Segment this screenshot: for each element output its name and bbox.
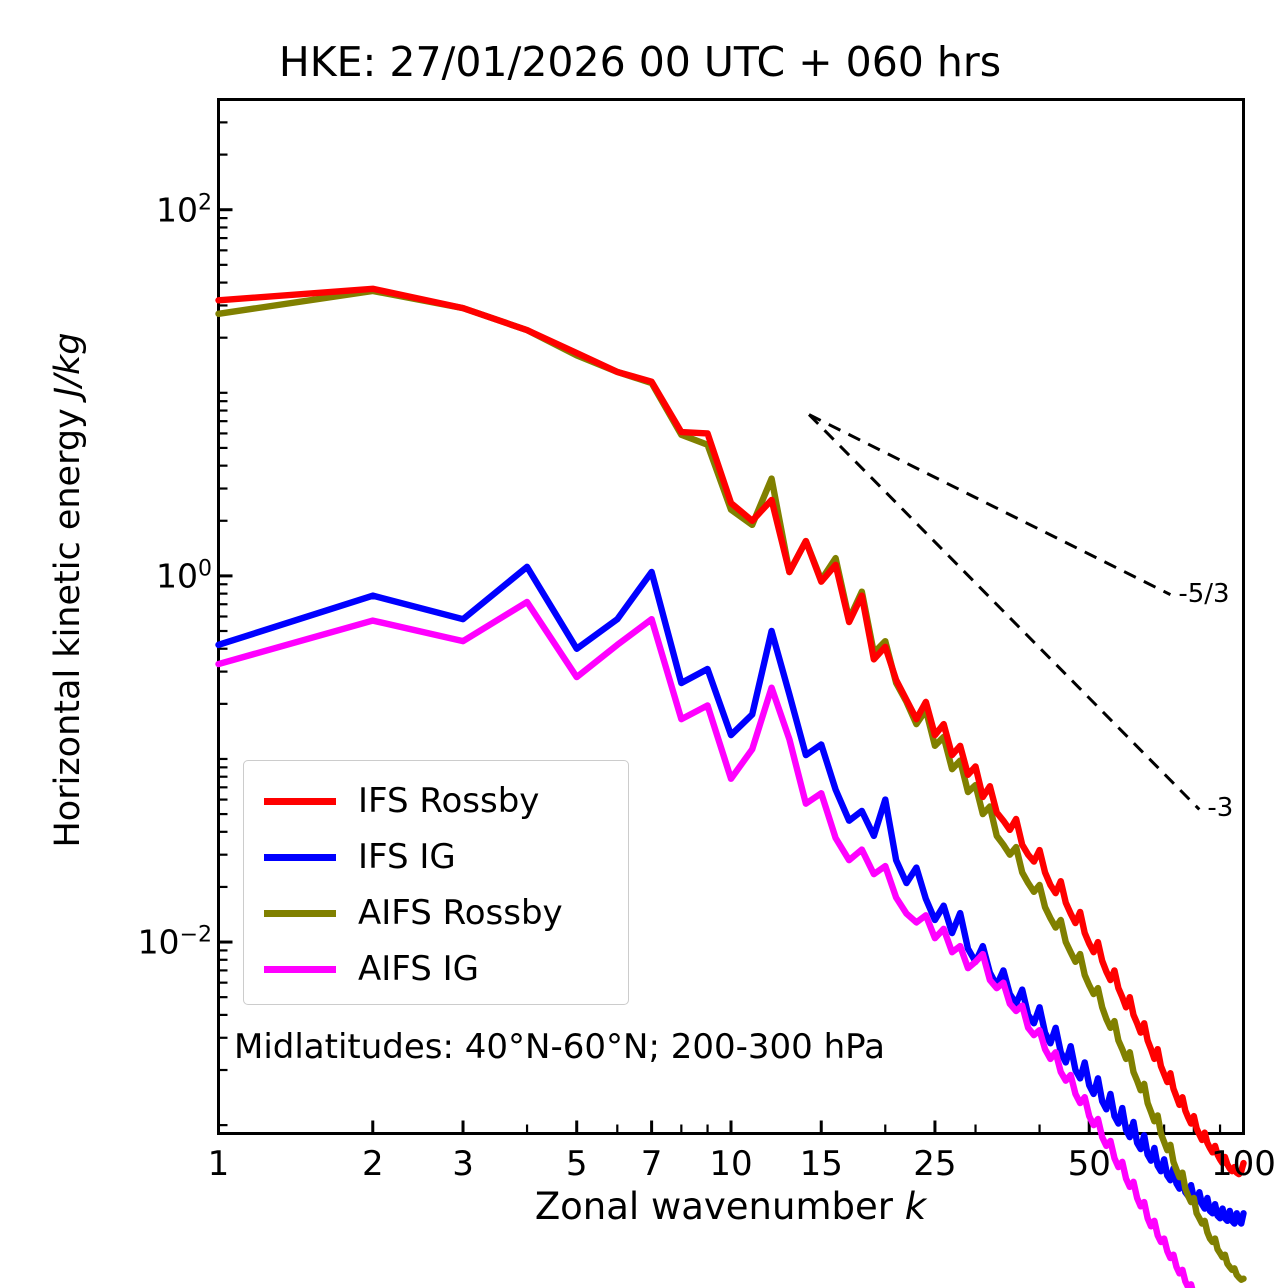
x-tick-label: 7 xyxy=(641,1144,663,1184)
legend-swatch-ifs-ig xyxy=(264,854,336,861)
legend-swatch-aifs-ig xyxy=(264,966,336,973)
legend-swatch-ifs-rossby xyxy=(264,798,336,805)
x-tick-label: 50 xyxy=(1068,1144,1111,1184)
region-annotation: Midlatitudes: 40°N-60°N; 200-300 hPa xyxy=(234,1027,885,1067)
x-tick-label: 2 xyxy=(362,1144,384,1184)
x-tick-label: 100 xyxy=(1211,1144,1276,1184)
legend-item[interactable]: IFS IG xyxy=(244,829,628,885)
legend-label: IFS IG xyxy=(358,840,456,874)
x-tick-label: 5 xyxy=(566,1144,588,1184)
legend-item[interactable]: IFS Rossby xyxy=(244,773,628,829)
x-tick-label: 25 xyxy=(913,1144,956,1184)
legend-item[interactable]: AIFS IG xyxy=(244,941,628,997)
x-tick-label: 15 xyxy=(800,1144,843,1184)
slope-label: -3 xyxy=(1207,793,1233,823)
x-tick-label: 3 xyxy=(452,1144,474,1184)
y-tick-label: 102 xyxy=(156,190,212,229)
legend-box[interactable]: IFS Rossby IFS IG AIFS Rossby AIFS IG xyxy=(243,760,629,1005)
legend-item[interactable]: AIFS Rossby xyxy=(244,885,628,941)
legend-label: AIFS IG xyxy=(358,952,479,986)
x-tick-label: 10 xyxy=(709,1144,752,1184)
y-tick-label: 10−2 xyxy=(138,923,212,962)
legend-label: AIFS Rossby xyxy=(358,896,563,930)
slope-label: -5/3 xyxy=(1178,579,1229,609)
legend-label: IFS Rossby xyxy=(358,784,539,818)
figure-canvas: HKE: 27/01/2026 00 UTC + 060 hrs Horizon… xyxy=(0,0,1280,1288)
x-tick-label: 1 xyxy=(208,1144,230,1184)
legend-swatch-aifs-rossby xyxy=(264,910,336,917)
y-tick-label: 100 xyxy=(156,556,212,595)
